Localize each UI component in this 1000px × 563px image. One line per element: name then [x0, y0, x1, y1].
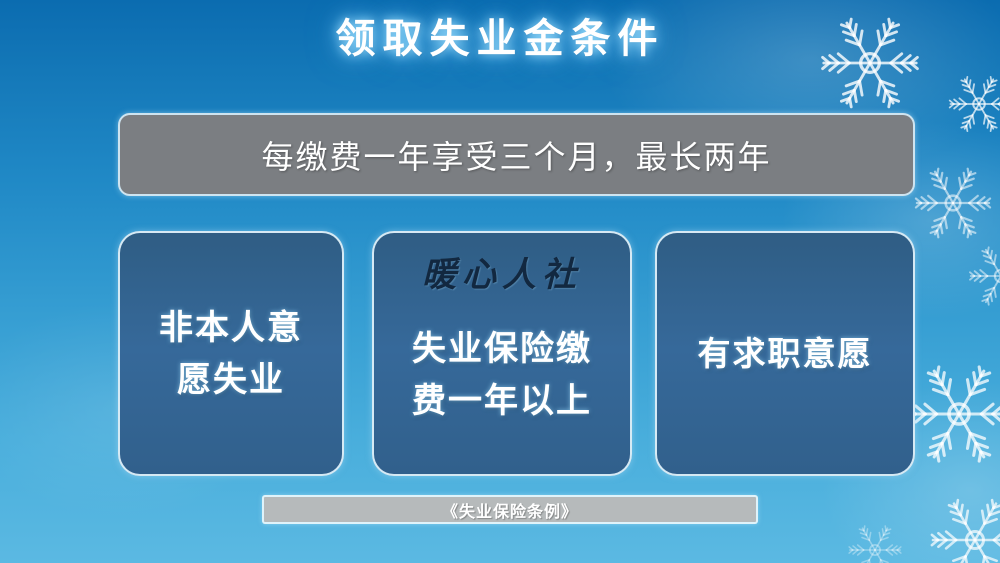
- summary-banner: 每缴费一年享受三个月，最长两年: [118, 113, 915, 196]
- condition-card-body: 非本人意 愿失业: [159, 302, 303, 406]
- source-footer-text: 《失业保险条例》: [442, 498, 578, 522]
- condition-card-line: 愿失业: [159, 354, 303, 406]
- snowflake-top-right-small-icon: [945, 70, 1000, 138]
- condition-card-job-seeking[interactable]: 有求职意愿: [655, 231, 915, 476]
- condition-card-body: 失业保险缴 费一年以上: [412, 323, 592, 427]
- condition-card-line: 费一年以上: [412, 375, 592, 427]
- snowflake-lower-right-icon: [900, 355, 1000, 473]
- snowflake-bottom-corner-icon: [845, 520, 905, 563]
- source-footer-bar: 《失业保险条例》: [262, 495, 758, 524]
- snowflake-right-edge-icon: [965, 240, 1000, 312]
- condition-card-contribution[interactable]: 暖心人社 失业保险缴 费一年以上: [372, 231, 632, 476]
- page-title: 领取失业金条件: [0, 13, 1000, 65]
- condition-card-line: 失业保险缴: [412, 323, 592, 375]
- condition-card-non-voluntary[interactable]: 非本人意 愿失业: [118, 231, 344, 476]
- slide-canvas: 领取失业金条件 每缴费一年享受三个月，最长两年 非本人意 愿失业 暖心人社 失业…: [0, 0, 1000, 563]
- condition-card-line: 有求职意愿: [698, 328, 873, 380]
- snowflake-bottom-right-icon: [925, 490, 1000, 563]
- snowflake-mid-right-icon: [910, 160, 996, 246]
- condition-card-body: 有求职意愿: [698, 328, 873, 380]
- brand-watermark: 暖心人社: [374, 247, 630, 296]
- condition-card-line: 非本人意: [159, 302, 303, 354]
- summary-banner-text: 每缴费一年享受三个月，最长两年: [261, 132, 771, 178]
